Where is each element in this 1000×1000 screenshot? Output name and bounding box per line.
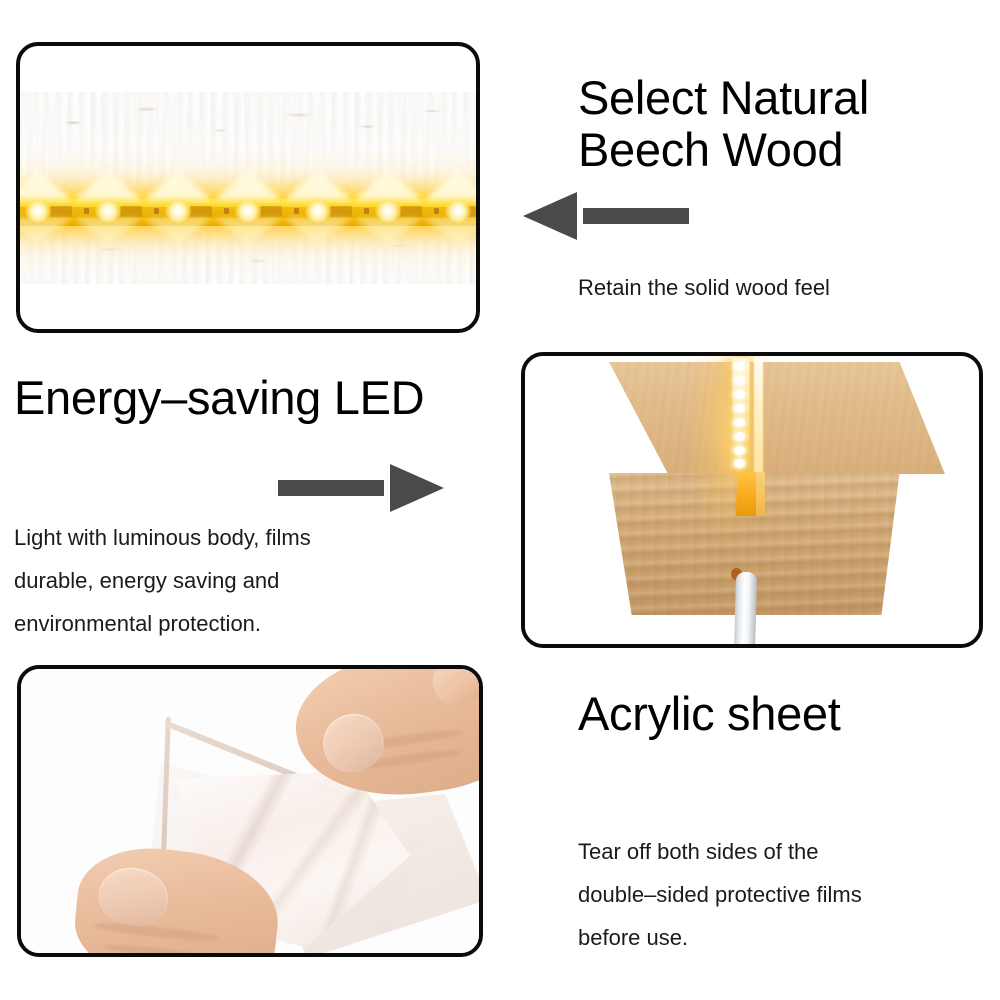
caption-energy-saving-led-line-1: Light with luminous body, films — [14, 516, 484, 559]
infographic-canvas: Select Natural Beech Wood Retain the sol… — [0, 0, 1000, 1000]
caption-acrylic-sheet-line-3: before use. — [578, 916, 978, 959]
feature-text-acrylic-sheet: Acrylic sheet Tear off both sides of the… — [578, 688, 978, 959]
headline-energy-saving-led: Energy–saving LED — [14, 372, 484, 424]
headline-beech-wood: Select Natural Beech Wood — [578, 72, 978, 176]
arrow-left-beech-wood — [519, 190, 694, 242]
hand-upper-thumb — [425, 669, 479, 713]
headline-acrylic-sheet: Acrylic sheet — [578, 688, 978, 740]
arrow-right-energy-saving-led — [273, 462, 448, 514]
groove-end-face-side — [756, 472, 765, 516]
wood-plank-surface — [20, 92, 476, 284]
wood-block-lit-groove-photo — [525, 356, 979, 644]
led-strip — [20, 196, 476, 226]
caption-acrylic-sheet-line-1: Tear off both sides of the — [578, 830, 978, 873]
photo-card-beech-wood — [16, 42, 480, 333]
photo-card-acrylic-sheet — [17, 665, 483, 957]
groove-led-row — [733, 360, 746, 472]
acrylic-sheet-film-peel-photo — [21, 669, 479, 953]
caption-beech-wood-line-1: Retain the solid wood feel — [578, 266, 978, 309]
beech-wood-led-strip-photo — [20, 46, 476, 329]
photo-card-wood-block — [521, 352, 983, 648]
led-groove-rim-highlight — [754, 358, 763, 476]
caption-energy-saving-led-line-2: durable, energy saving and — [14, 559, 484, 602]
caption-energy-saving-led-line-3: environmental protection. — [14, 602, 484, 645]
power-cable — [733, 572, 757, 644]
caption-acrylic-sheet-line-2: double–sided protective films — [578, 873, 978, 916]
